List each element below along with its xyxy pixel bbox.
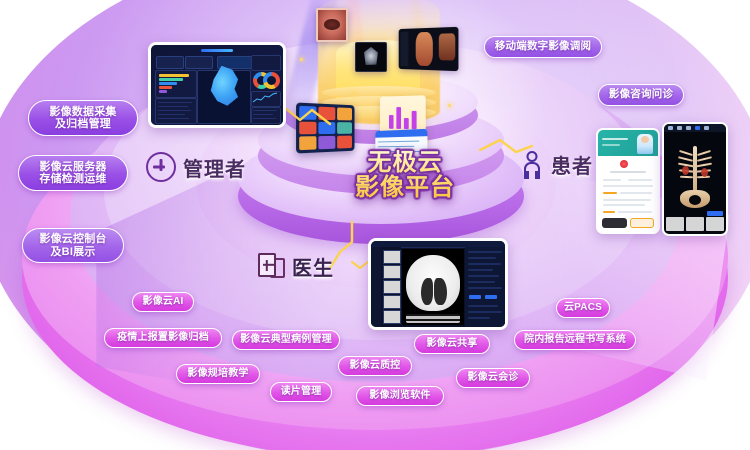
tag-cloud-server[interactable]: 影像云服务器 存储检测运维 [18, 155, 128, 191]
tag-quality-control[interactable]: 影像云质控 [338, 356, 412, 376]
tag-console-bi[interactable]: 影像云控制台 及BI展示 [22, 228, 124, 263]
role-doctor[interactable]: 医生 [258, 252, 334, 281]
app-tiles-screen [296, 102, 354, 153]
patient-consultation-phone [596, 128, 660, 234]
role-patient[interactable]: 患者 [520, 150, 593, 179]
document-cross-icon [258, 253, 285, 280]
tag-case-mgmt[interactable]: 影像云典型病例管理 [232, 330, 340, 350]
circle-cross-icon [146, 152, 176, 182]
tag-film-mgmt[interactable]: 读片管理 [270, 382, 332, 402]
tag-viewer-software[interactable]: 影像浏览软件 [356, 386, 444, 406]
tag-remote-report[interactable]: 院内报告远程书写系统 [514, 330, 636, 350]
big-data-dashboard-screen [148, 42, 286, 128]
role-admin[interactable]: 管理者 [146, 152, 246, 182]
tag-data-collection[interactable]: 影像数据采集 及归档管理 [28, 100, 138, 136]
person-icon [520, 151, 544, 179]
platform-title: 无极云 影像平台 [330, 150, 480, 201]
chest-ct-viewer-screen [368, 238, 508, 330]
platform-title-line1: 无极云 [330, 150, 480, 175]
3d-render-screen [399, 27, 459, 71]
3d-skeleton-viewer-phone [662, 122, 728, 236]
tag-mobile-retrieval[interactable]: 移动端数字影像调阅 [484, 36, 602, 58]
tag-consultation[interactable]: 影像咨询问诊 [598, 84, 684, 106]
sparkle [300, 58, 303, 61]
tag-cloud-consult[interactable]: 影像云会诊 [456, 368, 530, 388]
tag-cloud-pacs[interactable]: 云PACS [556, 298, 610, 318]
tag-training[interactable]: 影像规培教学 [176, 364, 260, 384]
tag-epidemic-report[interactable]: 疫情上报置影像归档 [104, 328, 222, 348]
role-doctor-label: 医生 [292, 252, 334, 281]
platform-title-line2: 影像平台 [330, 175, 480, 200]
ultrasound-image [355, 42, 387, 72]
infographic-canvas: 管理者 患者 医生 无极云 影像平台 影像数据采集 及归档管理 影像云服务器 存… [0, 0, 750, 450]
role-admin-label: 管理者 [183, 153, 246, 182]
sparkle [352, 92, 355, 95]
sparkle [448, 104, 451, 107]
tag-cloud-ai[interactable]: 影像云AI [132, 292, 194, 312]
endoscope-image [316, 8, 348, 42]
role-patient-label: 患者 [551, 150, 593, 179]
tag-cloud-share[interactable]: 影像云共享 [414, 334, 490, 354]
